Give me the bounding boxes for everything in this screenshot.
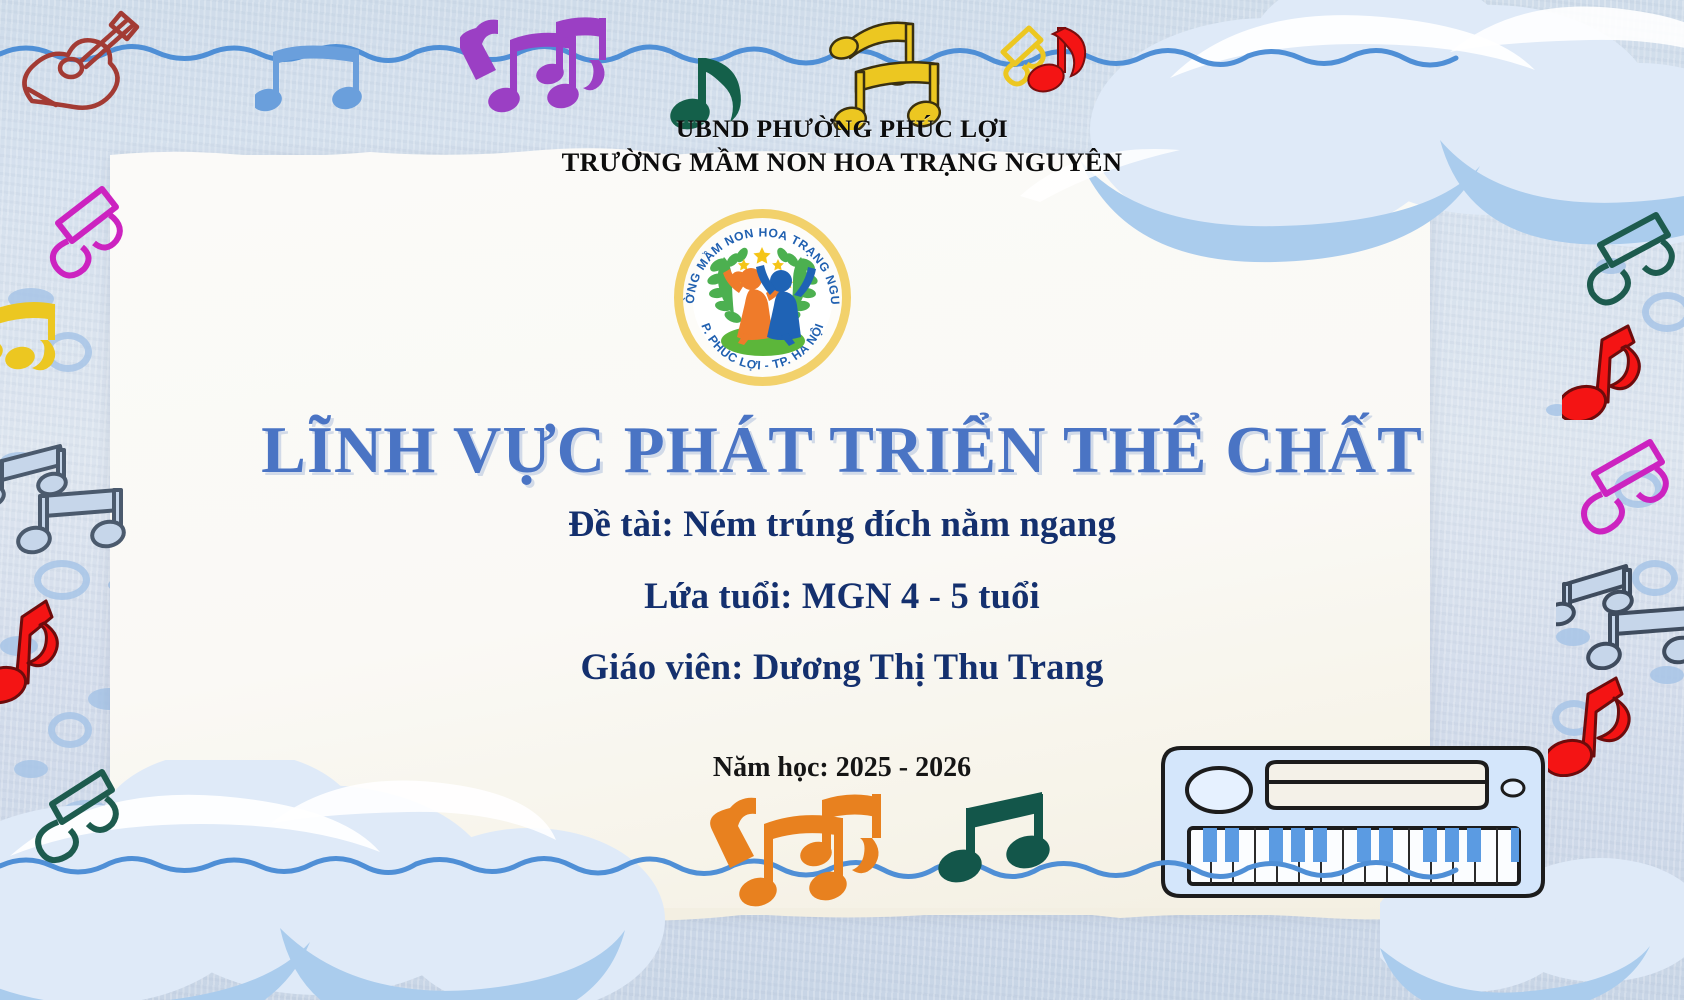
wave-line-top bbox=[0, 28, 1684, 74]
header-line-1: UBND PHƯỜNG PHÚC LỢI bbox=[0, 112, 1684, 145]
note-red-right-icon bbox=[1562, 320, 1672, 420]
header-line-2: TRƯỜNG MẦM NON HOA TRẠNG NGUYÊN bbox=[0, 145, 1684, 179]
subtitle-topic: Đề tài: Ném trúng đích nằm ngang bbox=[0, 502, 1684, 545]
subtitle-teacher: Giáo viên: Dương Thị Thu Trang bbox=[0, 645, 1684, 688]
presentation-slide: UBND PHƯỜNG PHÚC LỢI TRƯỜNG MẦM NON HOA … bbox=[0, 0, 1684, 1000]
subtitle-age-group: Lứa tuổi: MGN 4 - 5 tuổi bbox=[0, 574, 1684, 617]
school-logo: TRƯỜNG MẦM NON HOA TRẠNG NGUYÊN P. PHÚC … bbox=[670, 205, 855, 390]
note-blue-beamed-icon bbox=[255, 40, 370, 120]
note-red-round-icon bbox=[1022, 22, 1092, 98]
school-year-label: Năm học: 2025 - 2026 bbox=[0, 752, 1684, 784]
organization-header: UBND PHƯỜNG PHÚC LỢI TRƯỜNG MẦM NON HOA … bbox=[0, 112, 1684, 180]
note-yellow-small-icon bbox=[985, 18, 1065, 98]
torn-edge-bottom bbox=[110, 908, 1430, 924]
page-title: LĨNH VỰC PHÁT TRIỂN THỂ CHẤT bbox=[0, 412, 1684, 489]
